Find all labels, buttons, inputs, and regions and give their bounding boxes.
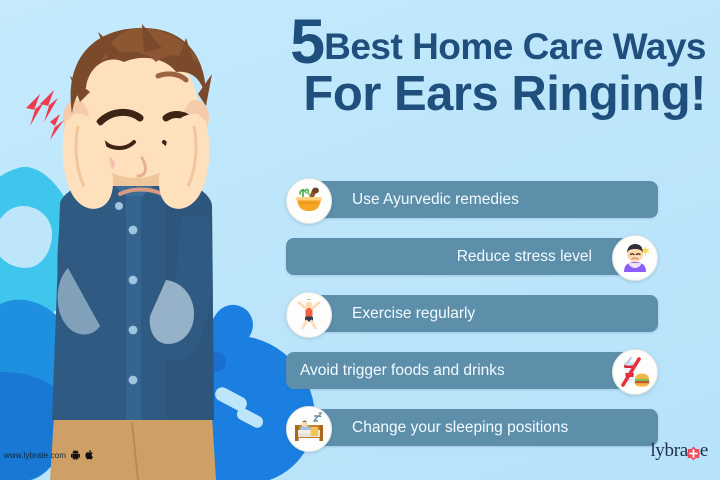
- brand-text-post: e: [700, 440, 708, 462]
- boy-covering-ears-illustration: [16, 18, 266, 480]
- junk-food-no-icon: [612, 349, 658, 395]
- title-line-1: 5Best Home Care Ways: [250, 12, 706, 74]
- android-icon: [71, 450, 80, 460]
- tip-bar-3[interactable]: Exercise regularly: [310, 295, 658, 332]
- ayurvedic-bowl-icon: [286, 178, 332, 224]
- tip-bar-1[interactable]: Use Ayurvedic remedies: [310, 181, 658, 218]
- tip-row-1: Use Ayurvedic remedies: [286, 178, 658, 221]
- tip-label-3: Exercise regularly: [352, 305, 644, 323]
- page-title: 5Best Home Care Ways For Ears Ringing!: [250, 12, 706, 118]
- brand-text-pre: lybra: [650, 440, 688, 462]
- infographic-canvas: 5Best Home Care Ways For Ears Ringing! U…: [0, 0, 720, 480]
- tip-label-5: Change your sleeping positions: [352, 419, 644, 437]
- tip-row-5: Change your sleeping positions: [286, 406, 658, 449]
- tips-list: Use Ayurvedic remedies Reduce stress lev…: [286, 178, 658, 463]
- tip-bar-5[interactable]: Change your sleeping positions: [310, 409, 658, 446]
- apple-icon: [85, 450, 94, 460]
- tip-label-4: Avoid trigger foods and drinks: [300, 362, 592, 380]
- tip-row-2: Reduce stress level: [286, 235, 658, 278]
- sleeping-bed-icon: [286, 406, 332, 452]
- title-line-1-text: Best Home Care Ways: [324, 26, 706, 67]
- lybrate-logo[interactable]: lybra e: [650, 440, 708, 462]
- ringing-lines: [26, 90, 64, 140]
- footer-attribution: www.lybrate.com: [4, 450, 94, 460]
- tip-row-4: Avoid trigger foods and drinks: [286, 349, 658, 392]
- tip-label-2: Reduce stress level: [300, 248, 592, 266]
- site-url: www.lybrate.com: [4, 451, 66, 460]
- tip-label-1: Use Ayurvedic remedies: [352, 191, 644, 209]
- tip-bar-2[interactable]: Reduce stress level: [286, 238, 634, 275]
- lybrate-diamond-icon: [686, 446, 701, 461]
- title-line-2: For Ears Ringing!: [250, 70, 706, 118]
- exercise-person-icon: [286, 292, 332, 338]
- tip-bar-4[interactable]: Avoid trigger foods and drinks: [286, 352, 634, 389]
- tip-row-3: Exercise regularly: [286, 292, 658, 335]
- stressed-person-icon: [612, 235, 658, 281]
